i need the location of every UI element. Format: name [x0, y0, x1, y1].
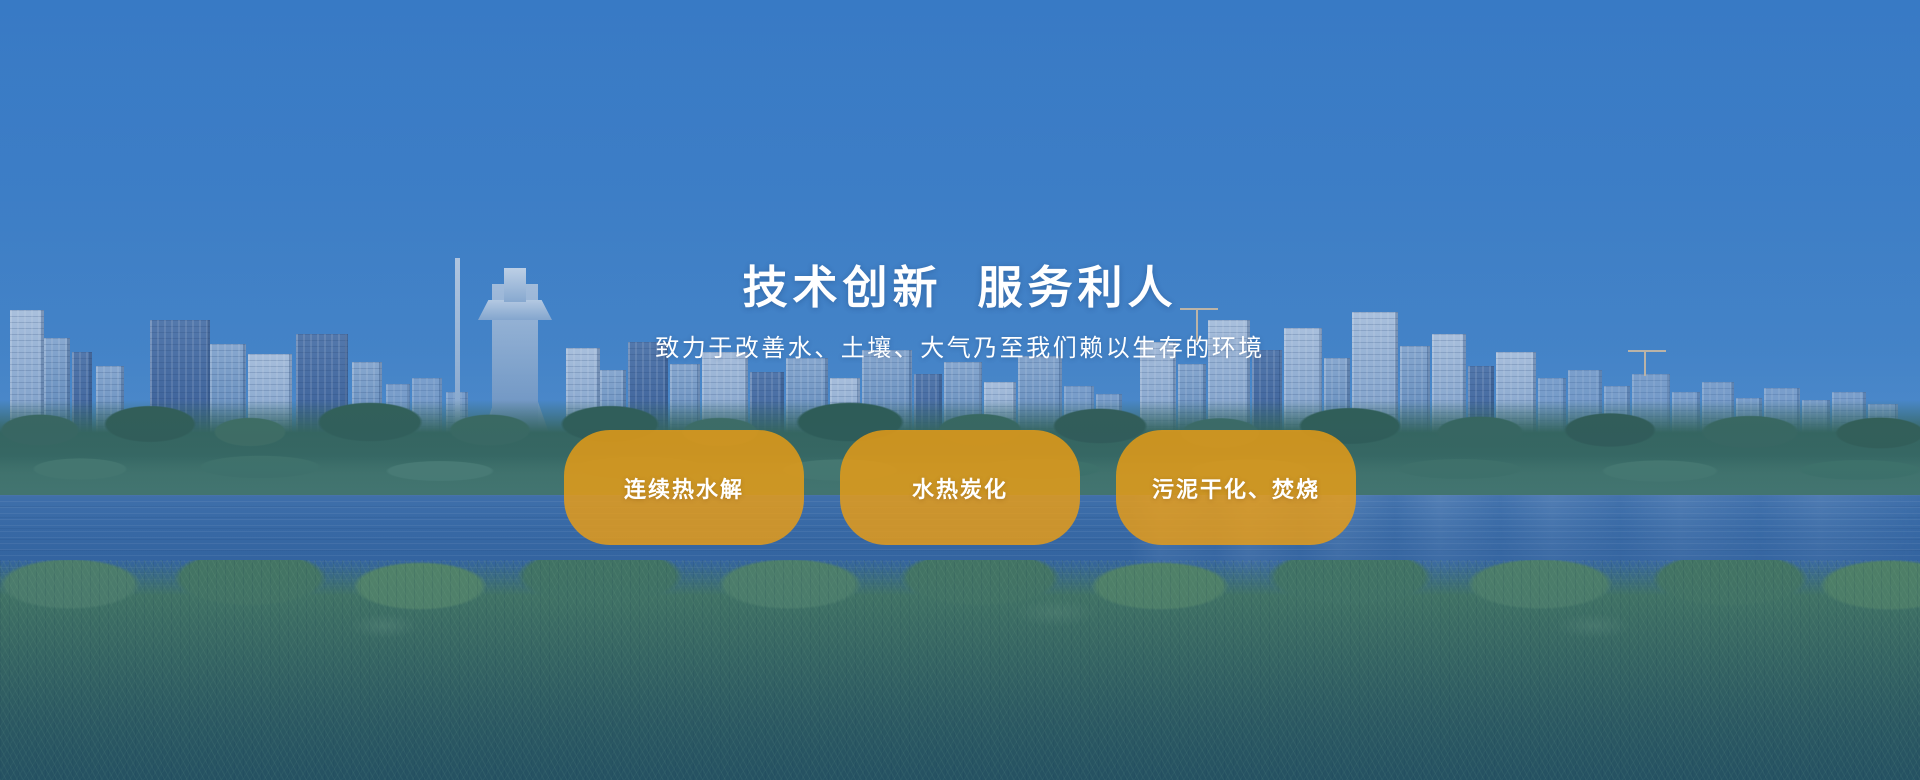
category-button-thermal-hydrolysis[interactable]: 连续热水解	[564, 430, 804, 545]
category-button-group: 连续热水解 水热炭化 污泥干化、焚烧	[564, 430, 1356, 545]
hero-content: 技术创新 服务利人 致力于改善水、土壤、大气乃至我们赖以生存的环境 连续热水解 …	[0, 0, 1920, 780]
page-title: 技术创新 服务利人	[742, 265, 1177, 310]
page-subtitle: 致力于改善水、土壤、大气乃至我们赖以生存的环境	[655, 337, 1265, 361]
hero-banner: 技术创新 服务利人 致力于改善水、土壤、大气乃至我们赖以生存的环境 连续热水解 …	[0, 0, 1920, 780]
category-button-hydrothermal-carbonization[interactable]: 水热炭化	[840, 430, 1080, 545]
category-button-sludge-drying-incineration[interactable]: 污泥干化、焚烧	[1116, 430, 1356, 545]
